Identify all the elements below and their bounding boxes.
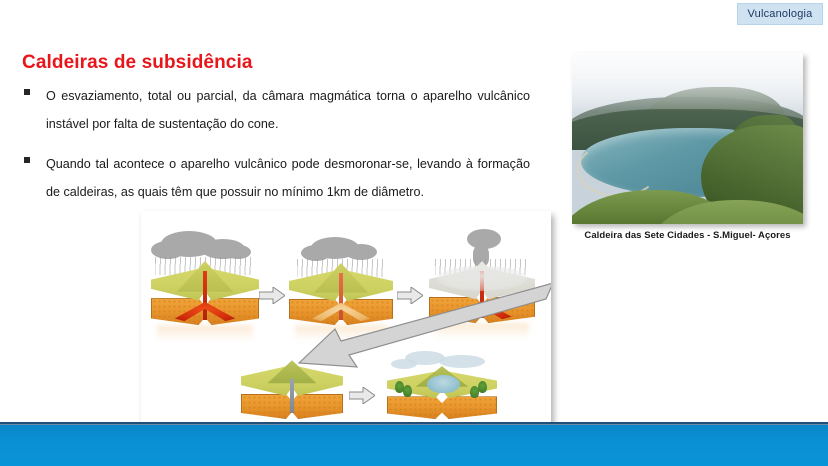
diagram-stage-1 — [151, 233, 259, 325]
list-item-text: Quando tal acontece o aparelho vulcânico… — [46, 150, 530, 206]
stage-arrow-icon — [349, 387, 375, 404]
tree-icon — [470, 386, 479, 398]
panel-reflection — [157, 325, 252, 342]
page-title: Caldeiras de subsidência — [22, 52, 253, 74]
footer-bar — [0, 425, 828, 466]
volcano-block — [151, 261, 259, 325]
volcano-block — [241, 359, 343, 419]
slide-canvas: Vulcanologia Caldeiras de subsidência O … — [0, 0, 828, 466]
photo-caption: Caldeira das Sete Cidades - S.Miguel- Aç… — [572, 230, 803, 241]
crust-layer — [387, 396, 497, 419]
bullet-list: O esvaziamento, total ou parcial, da câm… — [24, 82, 544, 218]
list-item: O esvaziamento, total ou parcial, da câm… — [24, 82, 544, 138]
caldera-formation-diagram — [141, 211, 551, 427]
photo-inner — [572, 53, 803, 224]
diagram-stage-5 — [385, 353, 499, 419]
square-bullet-icon — [24, 157, 30, 163]
list-item: Quando tal acontece o aparelho vulcânico… — [24, 150, 544, 206]
photo-mist-overlay — [572, 53, 803, 111]
list-item-text: O esvaziamento, total ou parcial, da câm… — [46, 82, 530, 138]
stage-arrow-icon — [259, 287, 285, 304]
square-bullet-icon — [24, 89, 30, 95]
volcano-block — [387, 365, 497, 419]
topic-badge: Vulcanologia — [737, 3, 823, 25]
caldera-lake — [427, 375, 460, 393]
diagram-stage-4 — [241, 359, 343, 419]
caldera-photo — [572, 53, 803, 224]
tree-icon — [403, 385, 412, 397]
collapse-fracture — [290, 379, 294, 413]
tree-icon — [478, 381, 487, 393]
photo-shoreline — [577, 142, 660, 197]
crust-texture — [388, 397, 496, 418]
magma-conduit — [203, 271, 207, 320]
ash-cloud-icon — [345, 244, 377, 260]
